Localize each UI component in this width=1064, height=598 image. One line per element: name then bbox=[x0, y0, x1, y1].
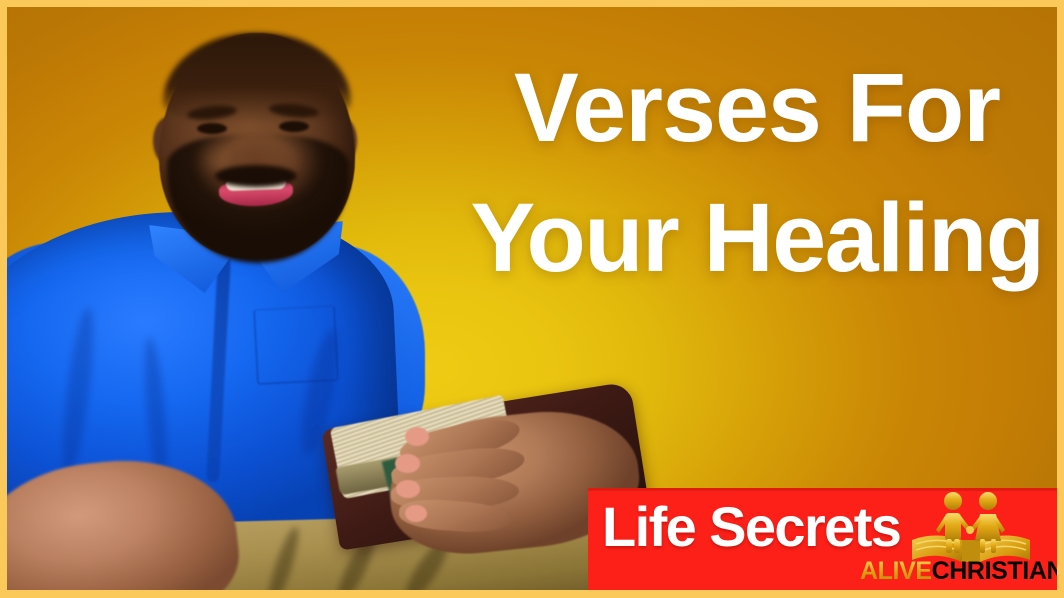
tagline-christians: CHRISTIANS bbox=[932, 557, 1057, 585]
brand-tagline: ALIVECHRISTIANS bbox=[860, 558, 1057, 585]
video-thumbnail: Verses For Your Healing Life Secrets bbox=[0, 0, 1064, 598]
brand-logo-banner: Life Secrets bbox=[588, 488, 1057, 590]
title-line-1: Verses For bbox=[462, 43, 1052, 173]
title-line-2: Your Healing bbox=[462, 173, 1052, 303]
thumbnail-title: Verses For Your Healing bbox=[462, 43, 1052, 303]
tagline-alive: ALIVE bbox=[860, 557, 932, 585]
thumbnail-stage: Verses For Your Healing Life Secrets bbox=[7, 7, 1057, 590]
brand-name: Life Secrets bbox=[602, 497, 900, 557]
